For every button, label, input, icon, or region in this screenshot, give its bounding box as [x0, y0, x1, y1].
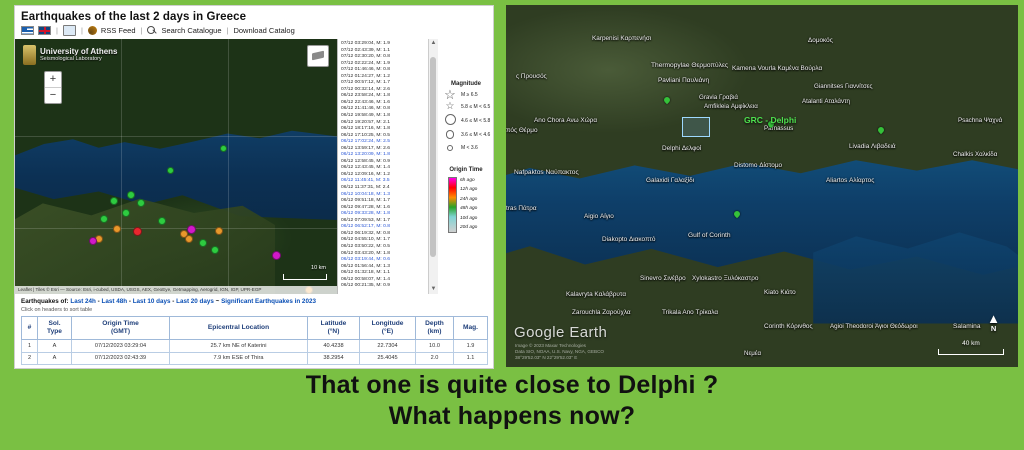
- map-attribution: Leaflet | Tiles © Esri — Source: Esri, i…: [15, 286, 337, 294]
- uk-flag-icon[interactable]: [38, 26, 51, 35]
- map-place-label: Sinevro Σινέβρο: [640, 275, 686, 282]
- map-place-label: tras Πάτρα: [506, 205, 537, 212]
- footer-prefix: Earthquakes of:: [21, 298, 69, 305]
- table-header-line-2: (GMT): [73, 328, 168, 336]
- table-header-line-1: Mag.: [455, 324, 486, 332]
- map-attribution-text: Leaflet | Tiles © Esri — Source: Esri, i…: [18, 287, 261, 292]
- event-list-scrollbar[interactable]: ▲ ▼: [428, 39, 438, 294]
- origin-time-label: 24h ago: [460, 196, 477, 205]
- table-header-line-1: Depth: [417, 320, 452, 328]
- origin-time-label: 10d ago: [460, 215, 477, 224]
- table-row[interactable]: 1A07/12/2023 03:29:0425.7 km NE of Kater…: [22, 340, 488, 352]
- layers-icon: [312, 52, 324, 61]
- google-earth-credits: Image © 2023 Maxar Technologies Data SIO…: [515, 343, 604, 361]
- delphi-selection-box[interactable]: [682, 117, 710, 137]
- table-header-row[interactable]: #Sol.TypeOrigin Time(GMT)Epicentral Loca…: [22, 317, 488, 340]
- circle-sm-icon: [447, 145, 453, 151]
- origin-time-color-bar: [448, 177, 457, 233]
- magnitude-legend-label: 4.6 ≤ M < 5.8: [461, 118, 490, 124]
- magnitude-legend-label: 5.8 ≤ M < 6.5: [461, 104, 490, 110]
- circle-sm-symbol: [442, 144, 458, 153]
- earthquake-marker[interactable]: [133, 227, 142, 236]
- magnitude-legend-label: 3.6 ≤ M < 4.6: [461, 132, 490, 138]
- magnitude-legend-rows: ☆M ≥ 6.5☆5.8 ≤ M < 6.54.6 ≤ M < 5.83.6 ≤…: [440, 90, 492, 153]
- table-cell: A: [38, 340, 72, 352]
- zoom-in-button[interactable]: +: [45, 72, 61, 88]
- origin-time-label: 12h ago: [460, 186, 477, 195]
- map-pin-icon[interactable]: [877, 126, 885, 134]
- magnitude-legend-label: M ≥ 6.5: [461, 92, 478, 98]
- search-catalogue-link[interactable]: Search Catalogue: [161, 26, 221, 35]
- map-and-legend-region: University of Athens Seismological Labor…: [15, 39, 493, 294]
- earthquake-map[interactable]: University of Athens Seismological Labor…: [15, 39, 337, 294]
- map-gridline: [15, 136, 337, 137]
- table-header-cell[interactable]: Mag.: [454, 317, 488, 340]
- map-place-label: Δομοκός: [808, 37, 833, 44]
- table-header-cell[interactable]: Longitude(°E): [360, 317, 416, 340]
- origin-time-legend-title: Origin Time: [440, 167, 492, 173]
- map-place-label: Aigio Αίγιο: [584, 213, 614, 220]
- event-list-panel[interactable]: 07/12 03:29:04, M: 1.907/12 02:43:39, M:…: [337, 39, 438, 294]
- earthquake-marker[interactable]: [185, 235, 193, 243]
- laboratory-name: Seismological Laboratory: [40, 56, 118, 62]
- toolbar-separator: |: [81, 26, 83, 35]
- earthquake-marker[interactable]: [211, 246, 219, 254]
- table-cell: 22.7304: [360, 340, 416, 352]
- map-place-label: Zarouchla Ζαρούχλα: [572, 309, 631, 316]
- sea-shape: [15, 125, 337, 220]
- magnitude-legend-row: ☆5.8 ≤ M < 6.5: [440, 102, 492, 111]
- map-place-label: πός Θέρμο: [506, 127, 538, 134]
- map-place-label: Gravia Γραβιά: [699, 94, 738, 101]
- map-place-label: Delphi Δελφοί: [662, 145, 701, 152]
- map-gridline: [228, 39, 229, 294]
- origin-time-label: 20d ago: [460, 224, 477, 233]
- magnitude-legend-row: 4.6 ≤ M < 5.8: [440, 114, 492, 127]
- university-logo-icon: [23, 45, 36, 65]
- earthquake-marker[interactable]: [127, 191, 135, 199]
- table-cell: 2: [22, 352, 38, 364]
- table-header-cell[interactable]: Sol.Type: [38, 317, 72, 340]
- caption-line-2: What happens now?: [0, 401, 1024, 432]
- monitor-icon[interactable]: [63, 25, 76, 36]
- credits-line-3: 38°29'52.03" N 22°29'52.03" E: [515, 355, 604, 361]
- table-cell: 25.4045: [360, 352, 416, 364]
- caption-block: That one is quite close to Delphi ? What…: [0, 370, 1024, 432]
- map-place-label: Xylokastro Ξυλόκαστρο: [692, 275, 758, 282]
- google-earth-panel[interactable]: Karpenisi ΚαρπενήσιΔομοκόςThermopylae Θε…: [506, 5, 1018, 367]
- map-gridline: [121, 39, 122, 294]
- map-place-label: Galaxidi Γαλαξίδι: [646, 177, 694, 184]
- map-pin-icon[interactable]: [663, 96, 671, 104]
- map-place-label: Distomo Δίστομο: [734, 162, 782, 169]
- table-header-cell[interactable]: Origin Time(GMT): [72, 317, 170, 340]
- seismology-page-panel: Earthquakes of the last 2 days in Greece…: [14, 5, 494, 369]
- map-scale-label: 40 km: [962, 340, 980, 347]
- map-place-label: Livadia Λιβαδειά: [849, 143, 896, 150]
- earthquake-marker[interactable]: [158, 217, 166, 225]
- earthquake-marker[interactable]: [167, 167, 174, 174]
- scroll-down-arrow[interactable]: ▼: [429, 285, 438, 294]
- table-header-line-1: Sol.: [39, 320, 70, 328]
- map-gridline: [15, 228, 337, 229]
- delphi-highlight-label: GRC - Delphi: [744, 115, 796, 125]
- table-body: 1A07/12/2023 03:29:0425.7 km NE of Kater…: [22, 340, 488, 364]
- origin-time-label: 6h ago: [460, 177, 477, 186]
- map-place-label: Ano Chora Ανω Χώρα: [534, 117, 597, 124]
- map-place-label: Corinth Κόρινθος: [764, 323, 813, 330]
- map-place-label: Thermopylae Θερμοπύλες: [651, 62, 728, 69]
- map-place-label: Diakopto Διακοπτό: [602, 236, 655, 243]
- university-badge: University of Athens Seismological Labor…: [23, 45, 118, 65]
- footer-link[interactable]: Last 48h: [102, 298, 128, 305]
- table-header-line-2: (°E): [361, 328, 414, 336]
- compass-icon[interactable]: ▲ N: [987, 314, 1000, 333]
- toolbar-separator: |: [141, 26, 143, 35]
- earthquake-marker[interactable]: [272, 251, 281, 260]
- sort-hint: Click on headers to sort table: [15, 307, 493, 316]
- map-legend: Magnitude ☆M ≥ 6.5☆5.8 ≤ M < 6.54.6 ≤ M …: [438, 39, 492, 294]
- circle-md-symbol: [442, 130, 458, 141]
- earthquake-marker[interactable]: [100, 215, 108, 223]
- earthquake-marker[interactable]: [137, 199, 145, 207]
- table-cell: 07/12/2023 03:29:04: [72, 340, 170, 352]
- toolbar-separator: |: [227, 26, 229, 35]
- map-place-label: Pavliani Παυλιάνη: [658, 77, 709, 84]
- origin-time-legend: 6h ago12h ago24h ago48h ago10d ago20d ag…: [440, 177, 492, 233]
- earthquake-marker[interactable]: [122, 209, 130, 217]
- map-place-label: Kalavryta Καλάβρυτα: [566, 291, 626, 298]
- table-header-cell[interactable]: Epicentral Location: [170, 317, 308, 340]
- map-place-label: Aliartos Αλίαρτος: [826, 177, 874, 184]
- map-place-label: Kiato Κιάτο: [764, 289, 796, 296]
- significant-earthquakes-link[interactable]: Significant Earthquakes in 2023: [221, 298, 316, 305]
- table-header-cell[interactable]: Depth(km): [416, 317, 454, 340]
- rss-icon[interactable]: [88, 26, 97, 35]
- map-place-label: Atalanti Αταλάντη: [802, 98, 850, 105]
- table-row[interactable]: 2A07/12/2023 02:43:397.9 km ESE of Thira…: [22, 352, 488, 364]
- earthquake-marker[interactable]: [89, 237, 97, 245]
- map-place-label: Chalkis Χαλκίδα: [953, 151, 997, 158]
- earthquake-marker[interactable]: [220, 145, 227, 152]
- table-cell: 1.1: [454, 352, 488, 364]
- map-place-label: Nafpaktos Ναύπακτος: [514, 169, 579, 176]
- table-header-line-2: Type: [39, 328, 70, 336]
- table-header-line-1: #: [23, 324, 36, 332]
- table-cell: 2.0: [416, 352, 454, 364]
- north-arrow-icon: ▲: [987, 314, 1000, 324]
- greek-flag-icon[interactable]: [21, 26, 34, 35]
- circle-md-icon: [446, 130, 455, 139]
- map-place-label: Psachna Ψαχνά: [958, 117, 1002, 124]
- map-scale-bar: 40 km: [938, 349, 1004, 355]
- table-header-line-1: Origin Time: [73, 320, 168, 328]
- earthquake-table: #Sol.TypeOrigin Time(GMT)Epicentral Loca…: [21, 316, 488, 365]
- table-header-line-1: Epicentral Location: [171, 324, 306, 332]
- scrollbar-thumb[interactable]: [430, 57, 436, 257]
- map-scale-bar: 10 km: [283, 274, 327, 280]
- earthquake-marker[interactable]: [215, 227, 223, 235]
- map-zoom-control[interactable]: + −: [44, 71, 62, 104]
- scroll-up-arrow[interactable]: ▲: [429, 39, 438, 48]
- magnitude-legend-row: M < 3.6: [440, 144, 492, 153]
- earthquake-marker[interactable]: [187, 225, 196, 234]
- table-header-line-1: Latitude: [309, 320, 358, 328]
- table-cell: 07/12/2023 02:43:39: [72, 352, 170, 364]
- table-header-line-1: Longitude: [361, 320, 414, 328]
- table-header-cell[interactable]: #: [22, 317, 38, 340]
- magnitude-legend-label: M < 3.6: [461, 145, 478, 151]
- circle-lg-icon: [445, 114, 456, 125]
- origin-time-label: 48h ago: [460, 205, 477, 214]
- footer-link[interactable]: Last 20 days: [176, 298, 214, 305]
- download-catalog-link[interactable]: Download Catalog: [233, 26, 294, 35]
- footer-links: Earthquakes of: Last 24h - Last 48h - La…: [15, 294, 493, 307]
- map-place-label: Amfikleia Αμφίκλεια: [704, 103, 758, 110]
- map-place-label: Gulf of Corinth: [688, 232, 731, 239]
- earthquake-marker[interactable]: [199, 239, 207, 247]
- earthquake-marker[interactable]: [110, 197, 118, 205]
- map-scale-label: 10 km: [311, 265, 326, 271]
- rss-feed-link[interactable]: RSS Feed: [101, 26, 136, 35]
- page-toolbar: | | RSS Feed | Search Catalogue | Downlo…: [15, 25, 493, 39]
- footer-link[interactable]: Last 10 days: [133, 298, 171, 305]
- origin-time-labels: 6h ago12h ago24h ago48h ago10d ago20d ag…: [460, 177, 477, 233]
- table-cell: 40.4238: [308, 340, 360, 352]
- caption-line-1: That one is quite close to Delphi ?: [0, 370, 1024, 401]
- star-large-icon: ☆: [442, 90, 458, 99]
- footer-link[interactable]: Last 24h: [70, 298, 96, 305]
- table-cell: 10.0: [416, 340, 454, 352]
- event-list[interactable]: 07/12 03:29:04, M: 1.907/12 02:43:39, M:…: [338, 39, 429, 294]
- table-cell: 7.9 km ESE of Thira: [170, 352, 308, 364]
- table-header-line-2: (km): [417, 328, 452, 336]
- table-cell: 1.9: [454, 340, 488, 352]
- star-small-icon: ☆: [442, 102, 458, 111]
- table-cell: A: [38, 352, 72, 364]
- table-header-cell[interactable]: Latitude(°N): [308, 317, 360, 340]
- magnitude-legend-row: ☆M ≥ 6.5: [440, 90, 492, 99]
- map-layers-button[interactable]: [307, 45, 329, 67]
- table-cell: 1: [22, 340, 38, 352]
- zoom-out-button[interactable]: −: [45, 88, 61, 103]
- map-place-label: Agioi Theodoroi Άγιοι Θεόδωροι: [830, 323, 918, 330]
- toolbar-separator: |: [56, 26, 58, 35]
- footer-link-list: Last 24h - Last 48h - Last 10 days - Las…: [70, 298, 316, 305]
- table-cell: 38.2954: [308, 352, 360, 364]
- circle-lg-symbol: [442, 114, 458, 127]
- magnitude-legend-row: 3.6 ≤ M < 4.6: [440, 130, 492, 141]
- event-list-item[interactable]: 06/12 00:21:35, M: 0.9: [341, 283, 429, 290]
- earthquake-marker[interactable]: [113, 225, 121, 233]
- map-place-label: Giannitses Γιαννίτσες: [814, 83, 873, 90]
- table-header-line-2: (°N): [309, 328, 358, 336]
- map-place-label: Νεμέα: [744, 350, 761, 357]
- map-place-label: Kamena Vourla Καμένα Βούρλα: [732, 65, 822, 72]
- map-place-label: Karpenisi Καρπενήσι: [592, 35, 651, 42]
- google-earth-watermark: Google Earth: [514, 324, 607, 341]
- map-place-label: Salamina: [953, 323, 981, 330]
- map-place-label: ς Προυσός: [516, 73, 547, 80]
- map-place-label: Trikala Ano Τρίκαλα: [662, 309, 718, 316]
- page-title: Earthquakes of the last 2 days in Greece: [15, 6, 493, 25]
- magnifier-icon[interactable]: [147, 26, 157, 36]
- table-cell: 25.7 km NE of Katerini: [170, 340, 308, 352]
